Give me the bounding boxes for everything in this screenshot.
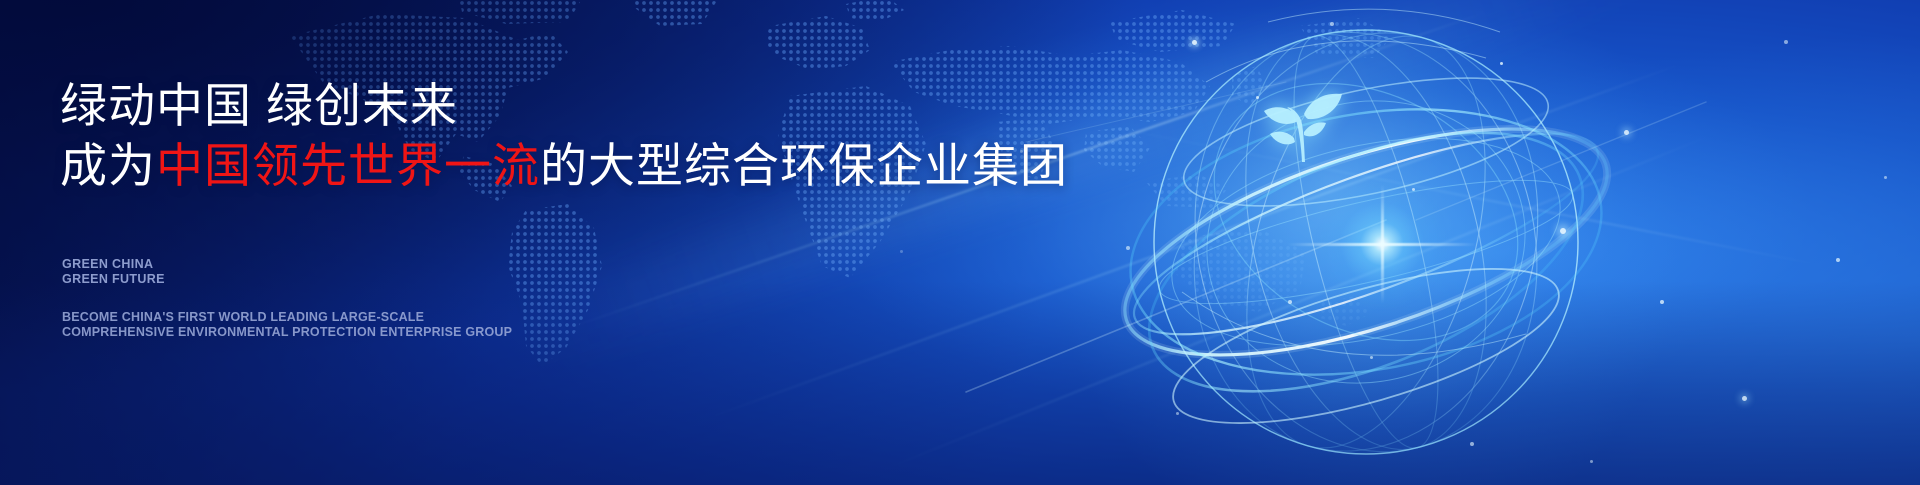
headline-line-2-suffix: 的大型综合环保企业集团 <box>540 139 1068 192</box>
sprout-seedling-icon <box>1254 74 1350 170</box>
english-slogan: GREEN CHINA GREEN FUTURE <box>62 257 165 287</box>
wireframe-globe-icon <box>1086 0 1646 485</box>
english-slogan-line-1: GREEN CHINA <box>62 257 165 272</box>
english-tagline-line-1: BECOME CHINA'S FIRST WORLD LEADING LARGE… <box>62 310 512 325</box>
headline-highlight: 中国领先世界一流 <box>156 139 540 192</box>
english-tagline: BECOME CHINA'S FIRST WORLD LEADING LARGE… <box>62 310 512 339</box>
headline-line-2-prefix: 成为 <box>60 139 156 192</box>
banner-content: 绿动中国 绿创未来 成为中国领先世界一流的大型综合环保企业集团 GREEN CH… <box>60 0 1060 485</box>
english-slogan-line-2: GREEN FUTURE <box>62 272 165 287</box>
light-flare-icon <box>1312 174 1452 314</box>
hero-banner: 绿动中国 绿创未来 成为中国领先世界一流的大型综合环保企业集团 GREEN CH… <box>0 0 1920 485</box>
headline: 绿动中国 绿创未来 成为中国领先世界一流的大型综合环保企业集团 <box>60 76 1068 196</box>
english-tagline-line-2: COMPREHENSIVE ENVIRONMENTAL PROTECTION E… <box>62 325 512 340</box>
headline-line-1: 绿动中国 绿创未来 <box>60 76 1068 136</box>
headline-line-2: 成为中国领先世界一流的大型综合环保企业集团 <box>60 136 1068 196</box>
